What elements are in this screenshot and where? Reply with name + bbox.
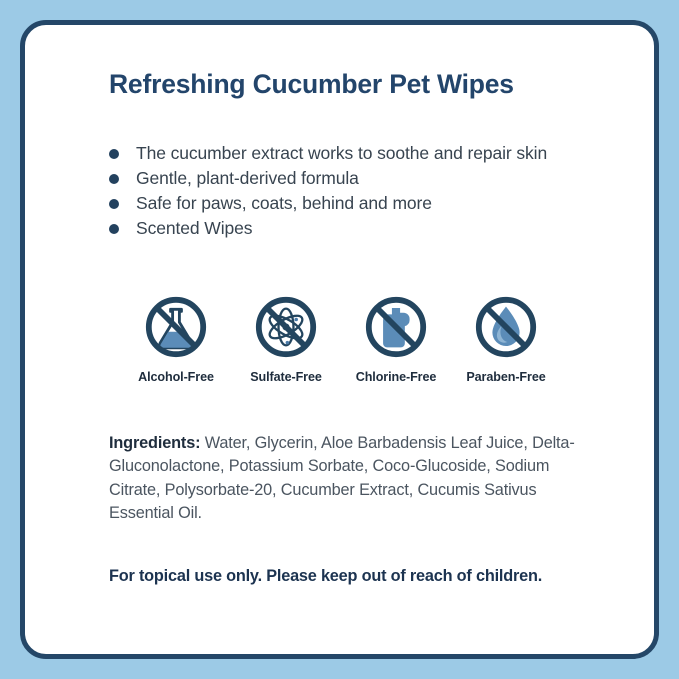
product-info-card: Refreshing Cucumber Pet Wipes The cucumb… (20, 20, 659, 659)
badge-alcohol-free: Alcohol-Free (121, 293, 231, 384)
no-jug-icon (362, 293, 430, 361)
no-droplet-icon (472, 293, 540, 361)
badge-label: Paraben-Free (466, 370, 545, 384)
badge-paraben-free: Paraben-Free (451, 293, 561, 384)
bullet-dot-icon (109, 174, 119, 184)
feature-text: Scented Wipes (136, 218, 252, 238)
badge-label: Chlorine-Free (356, 370, 437, 384)
feature-text: The cucumber extract works to soothe and… (136, 143, 547, 163)
no-flask-icon (142, 293, 210, 361)
bullet-dot-icon (109, 199, 119, 209)
list-item: The cucumber extract works to soothe and… (109, 141, 608, 166)
safety-warning: For topical use only. Please keep out of… (109, 567, 608, 586)
card-content: Refreshing Cucumber Pet Wipes The cucumb… (25, 25, 654, 654)
free-from-badges: Alcohol-Free Sulfate-Free (109, 293, 561, 384)
feature-text: Safe for paws, coats, behind and more (136, 193, 432, 213)
badge-label: Sulfate-Free (250, 370, 322, 384)
ingredients-text: Ingredients: Water, Glycerin, Aloe Barba… (109, 432, 579, 526)
badge-label: Alcohol-Free (138, 370, 214, 384)
no-atom-icon (252, 293, 320, 361)
bullet-dot-icon (109, 149, 119, 159)
ingredients-label: Ingredients: (109, 434, 200, 452)
feature-text: Gentle, plant-derived formula (136, 168, 359, 188)
list-item: Gentle, plant-derived formula (109, 166, 608, 191)
list-item: Safe for paws, coats, behind and more (109, 191, 608, 216)
bullet-dot-icon (109, 224, 119, 234)
badge-chlorine-free: Chlorine-Free (341, 293, 451, 384)
list-item: Scented Wipes (109, 216, 608, 241)
feature-list: The cucumber extract works to soothe and… (109, 141, 608, 241)
badge-sulfate-free: Sulfate-Free (231, 293, 341, 384)
page-title: Refreshing Cucumber Pet Wipes (109, 61, 608, 101)
